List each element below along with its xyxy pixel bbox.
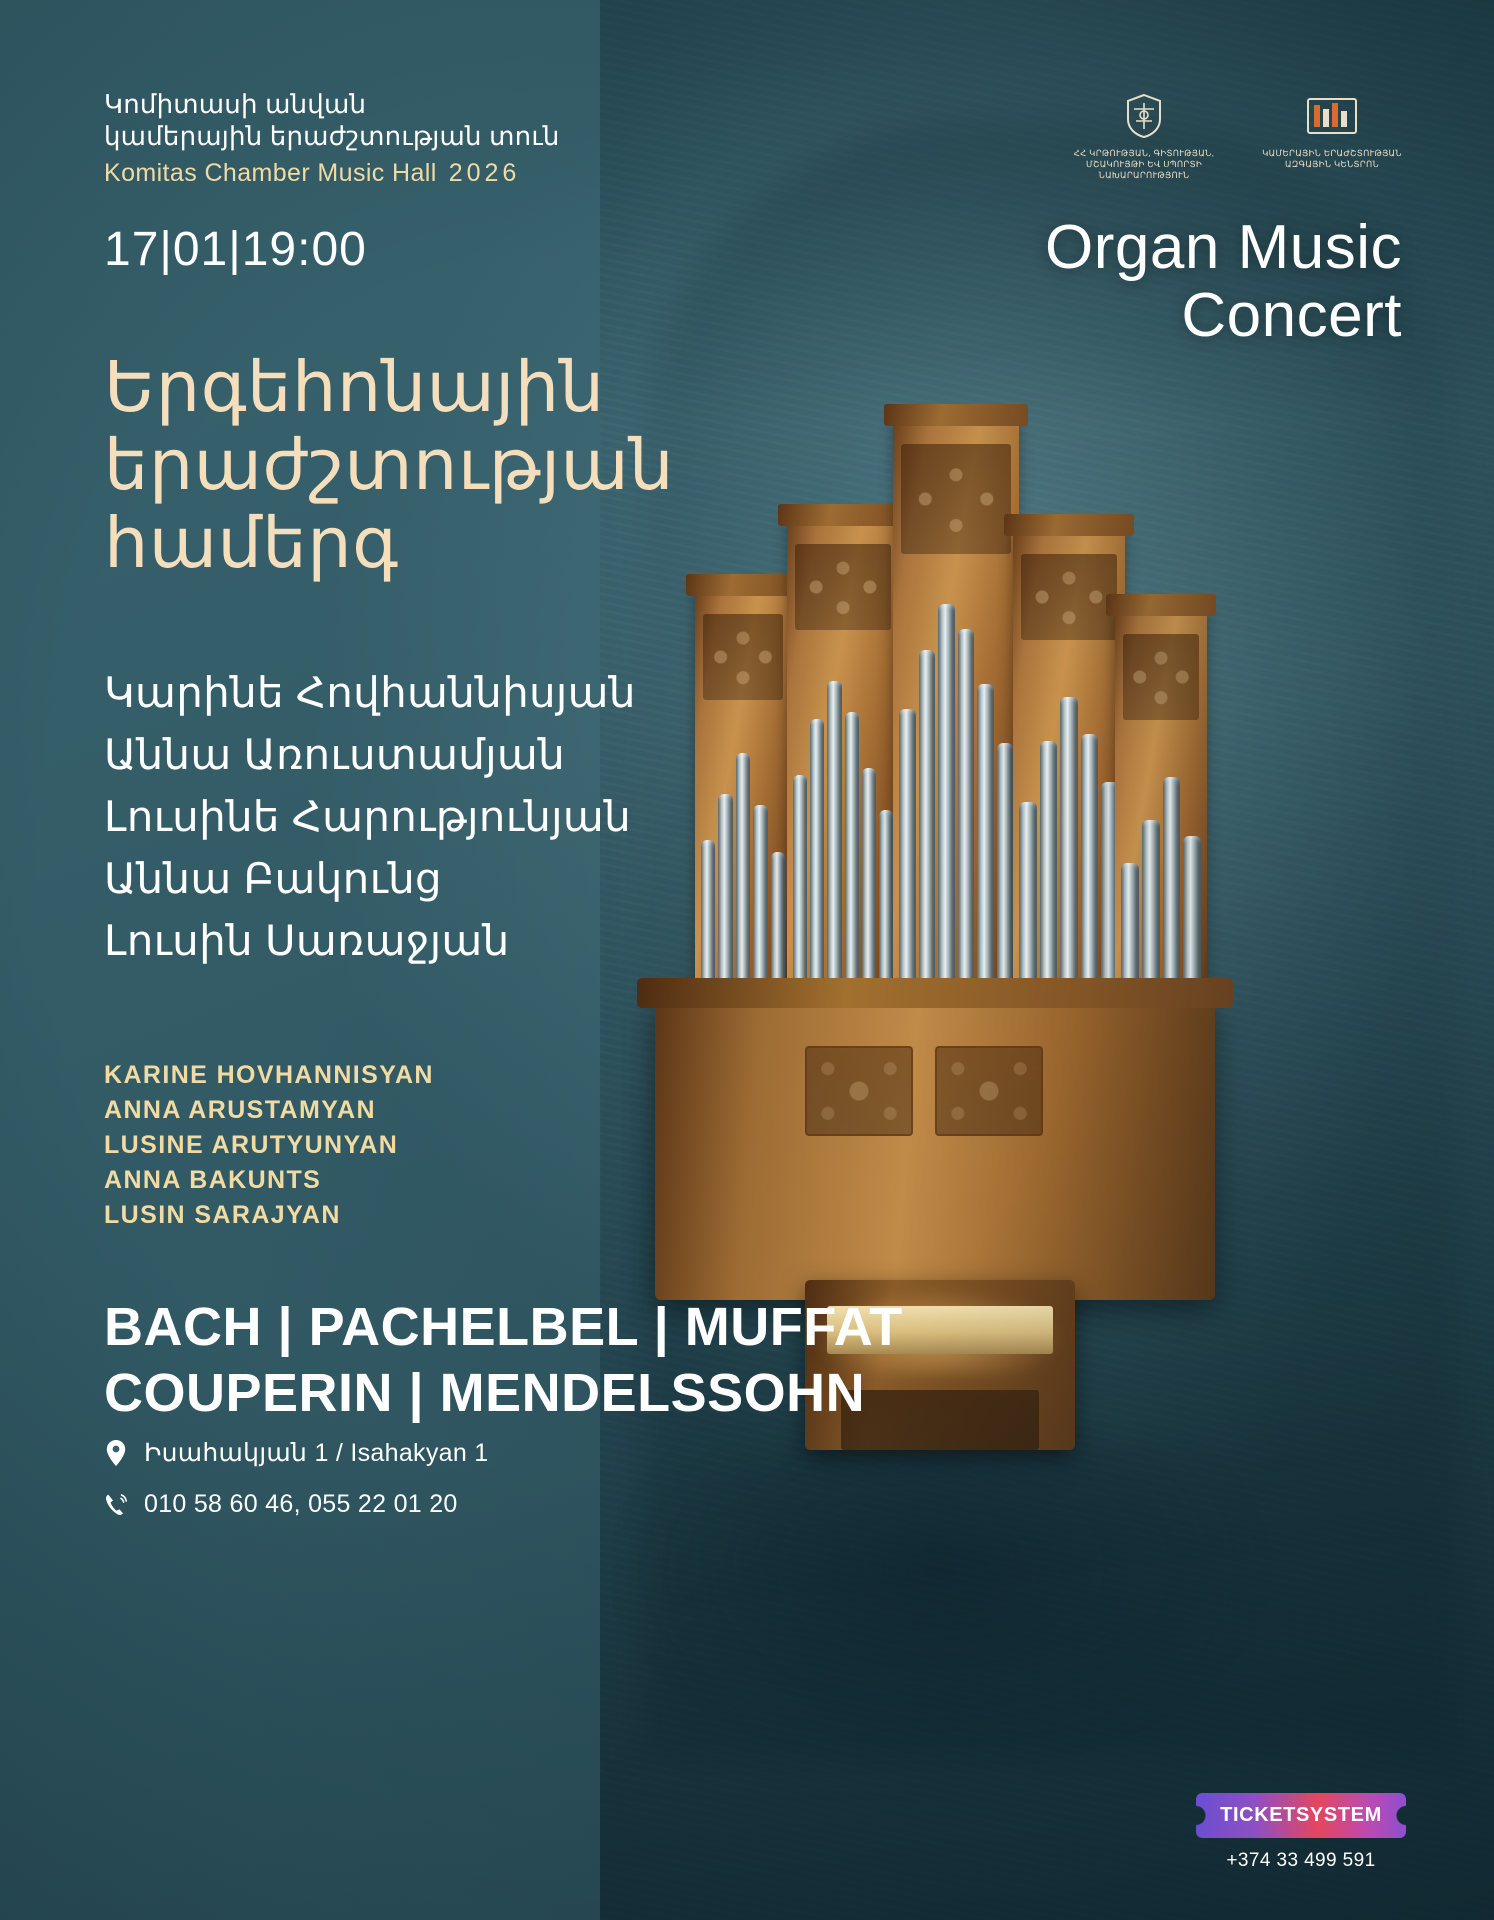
ticket-phone: +374 33 499 591 [1196, 1850, 1406, 1872]
address-row: Իսահակյան 1 / Isahakyan 1 [104, 1438, 489, 1468]
event-datetime: 17|01|19:00 [104, 222, 367, 277]
season-year: 2026 [449, 159, 521, 187]
performer-list-en: KARINE HOVHANNISYAN ANNA ARUSTAMYAN LUSI… [104, 1058, 434, 1233]
venue-name-hy-line2: կամերային երաժշտության տուն [104, 120, 560, 152]
composer-line-1: BACH | PACHELBEL | MUFFAT [104, 1294, 903, 1360]
performer-hy: Կարինե Հովհաննիսյան [104, 662, 636, 724]
performer-en: KARINE HOVHANNISYAN [104, 1058, 434, 1093]
event-title-en-line2: Concert [1045, 282, 1402, 350]
performer-hy: Աննա Առուստամյան [104, 724, 636, 786]
performer-hy: Աննա Բակունց [104, 848, 636, 910]
coat-of-arms-icon [1070, 92, 1218, 140]
ministry-logo: ՀՀ ԿՐԹՈՒԹՅԱՆ, ԳԻՏՈՒԹՅԱՆ, ՄՇԱԿՈՒՅԹԻ ԵՎ ՍՊ… [1070, 92, 1218, 181]
performer-hy: Լուսինե Հարությունյան [104, 786, 636, 848]
venue-name-en: Komitas Chamber Music Hall [104, 159, 437, 187]
contact-block: Իսահակյան 1 / Isahakyan 1 010 58 60 46, … [104, 1438, 489, 1541]
event-title-en: Organ Music Concert [1045, 214, 1402, 350]
performer-en: ANNA ARUSTAMYAN [104, 1093, 434, 1128]
performer-en: ANNA BAKUNTS [104, 1163, 434, 1198]
performer-hy: Լուսին Սառաջյան [104, 910, 636, 972]
venue-address: Իսահակյան 1 / Isahakyan 1 [144, 1438, 489, 1468]
venue-name-hy-line1: Կոմիտասի անվան [104, 88, 560, 120]
performer-en: LUSINE ARUTYUNYAN [104, 1128, 434, 1163]
venue-phone: 010 58 60 46, 055 22 01 20 [144, 1490, 458, 1519]
music-center-logo-caption: ԿԱՄԵՐԱՅԻՆ ԵՐԱԺՇՏՈՒԹՅԱՆ ԱԶԳԱՅԻՆ ԿԵՆՏՐՈՆ [1258, 148, 1406, 170]
event-title-hy: Երգեհոնային երաժշտության համերգ [104, 348, 674, 582]
event-title-en-line1: Organ Music [1045, 214, 1402, 282]
ticket-system-block[interactable]: TICKETSYSTEM +374 33 499 591 [1196, 1793, 1406, 1872]
map-pin-icon [104, 1440, 128, 1466]
performer-list-hy: Կարինե Հովհաննիսյան Աննա Առուստամյան Լու… [104, 662, 636, 972]
composer-line-2: COUPERIN | MENDELSSOHN [104, 1360, 903, 1426]
event-title-hy-line3: համերգ [104, 504, 674, 582]
concert-poster: Կոմիտասի անվան կամերային երաժշտության տո… [0, 0, 1494, 1920]
organ-pipes-icon [1258, 92, 1406, 140]
phone-row: 010 58 60 46, 055 22 01 20 [104, 1490, 489, 1519]
music-center-logo: ԿԱՄԵՐԱՅԻՆ ԵՐԱԺՇՏՈՒԹՅԱՆ ԱԶԳԱՅԻՆ ԿԵՆՏՐՈՆ [1258, 92, 1406, 170]
phone-ringing-icon [104, 1493, 128, 1517]
logo-strip: ՀՀ ԿՐԹՈՒԹՅԱՆ, ԳԻՏՈՒԹՅԱՆ, ՄՇԱԿՈՒՅԹԻ ԵՎ ՍՊ… [1070, 92, 1406, 181]
performer-en: LUSIN SARAJYAN [104, 1198, 434, 1233]
venue-name-en-row: Komitas Chamber Music Hall2026 [104, 157, 560, 189]
venue-block: Կոմիտասի անվան կամերային երաժշտության տո… [104, 88, 560, 189]
event-title-hy-line1: Երգեհոնային [104, 348, 674, 426]
event-title-hy-line2: երաժշտության [104, 426, 674, 504]
composer-list: BACH | PACHELBEL | MUFFAT COUPERIN | MEN… [104, 1294, 903, 1426]
ministry-logo-caption: ՀՀ ԿՐԹՈՒԹՅԱՆ, ԳԻՏՈՒԹՅԱՆ, ՄՇԱԿՈՒՅԹԻ ԵՎ ՍՊ… [1070, 148, 1218, 181]
ticketsystem-badge[interactable]: TICKETSYSTEM [1196, 1793, 1406, 1838]
